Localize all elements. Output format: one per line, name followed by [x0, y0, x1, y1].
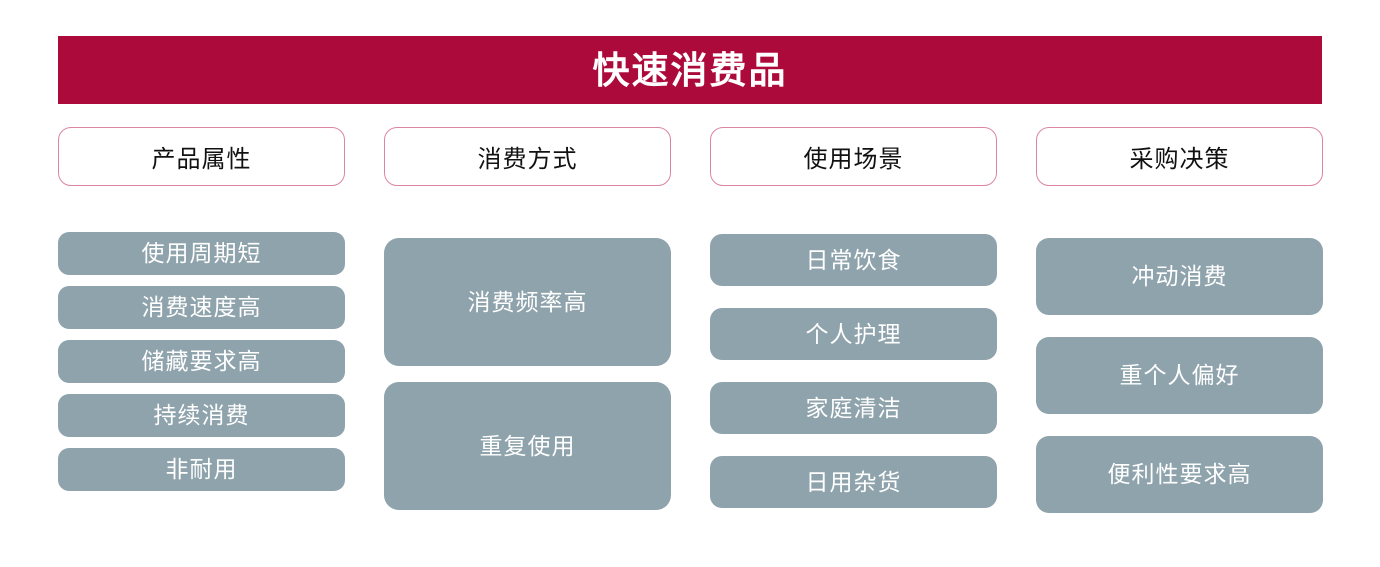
- list-item[interactable]: 冲动消费: [1036, 238, 1323, 315]
- list-item-label: 使用周期短: [142, 242, 262, 265]
- item-list-usage-scenario: 日常饮食 个人护理 家庭清洁 日用杂货: [710, 234, 997, 517]
- list-item-label: 家庭清洁: [806, 397, 902, 420]
- column-usage-scenario: 使用场景 日常饮食 个人护理 家庭清洁 日用杂货: [710, 127, 997, 517]
- category-header-purchase-decision[interactable]: 采购决策: [1036, 127, 1323, 186]
- list-item[interactable]: 储藏要求高: [58, 340, 345, 383]
- list-item[interactable]: 日常饮食: [710, 234, 997, 286]
- item-list-purchase-decision: 冲动消费 重个人偏好 便利性要求高: [1036, 238, 1323, 517]
- list-item[interactable]: 消费速度高: [58, 286, 345, 329]
- list-item-label: 持续消费: [154, 404, 250, 427]
- list-item[interactable]: 持续消费: [58, 394, 345, 437]
- list-item[interactable]: 消费频率高: [384, 238, 671, 366]
- list-item[interactable]: 便利性要求高: [1036, 436, 1323, 513]
- list-item-label: 便利性要求高: [1108, 463, 1252, 486]
- diagram-title-banner: 快速消费品: [58, 36, 1322, 104]
- diagram-canvas: 快速消费品 产品属性 使用周期短 消费速度高 储藏要求高 持续消费: [0, 0, 1380, 567]
- list-item[interactable]: 使用周期短: [58, 232, 345, 275]
- column-consumption-mode: 消费方式 消费频率高 重复使用: [384, 127, 671, 517]
- item-list-consumption-mode: 消费频率高 重复使用: [384, 238, 671, 517]
- list-item[interactable]: 重个人偏好: [1036, 337, 1323, 414]
- list-item-label: 日常饮食: [806, 249, 902, 272]
- list-item-label: 重复使用: [480, 435, 576, 458]
- category-header-product-attributes[interactable]: 产品属性: [58, 127, 345, 186]
- list-item-label: 个人护理: [806, 323, 902, 346]
- list-item[interactable]: 重复使用: [384, 382, 671, 510]
- category-header-consumption-mode[interactable]: 消费方式: [384, 127, 671, 186]
- list-item-label: 消费频率高: [468, 291, 588, 314]
- list-item[interactable]: 日用杂货: [710, 456, 997, 508]
- category-header-label: 使用场景: [804, 139, 904, 174]
- column-product-attributes: 产品属性 使用周期短 消费速度高 储藏要求高 持续消费 非耐用: [58, 127, 345, 517]
- category-header-usage-scenario[interactable]: 使用场景: [710, 127, 997, 186]
- category-header-label: 采购决策: [1130, 139, 1230, 174]
- category-header-label: 产品属性: [152, 139, 252, 174]
- list-item[interactable]: 个人护理: [710, 308, 997, 360]
- column-purchase-decision: 采购决策 冲动消费 重个人偏好 便利性要求高: [1036, 127, 1323, 517]
- list-item-label: 重个人偏好: [1120, 364, 1240, 387]
- list-item-label: 日用杂货: [806, 471, 902, 494]
- list-item-label: 冲动消费: [1132, 265, 1228, 288]
- list-item[interactable]: 家庭清洁: [710, 382, 997, 434]
- category-columns: 产品属性 使用周期短 消费速度高 储藏要求高 持续消费 非耐用: [58, 127, 1324, 517]
- list-item-label: 储藏要求高: [142, 350, 262, 373]
- item-list-product-attributes: 使用周期短 消费速度高 储藏要求高 持续消费 非耐用: [58, 232, 345, 517]
- list-item-label: 非耐用: [166, 458, 238, 481]
- list-item[interactable]: 非耐用: [58, 448, 345, 491]
- list-item-label: 消费速度高: [142, 296, 262, 319]
- category-header-label: 消费方式: [478, 139, 578, 174]
- page-title: 快速消费品: [593, 52, 788, 89]
